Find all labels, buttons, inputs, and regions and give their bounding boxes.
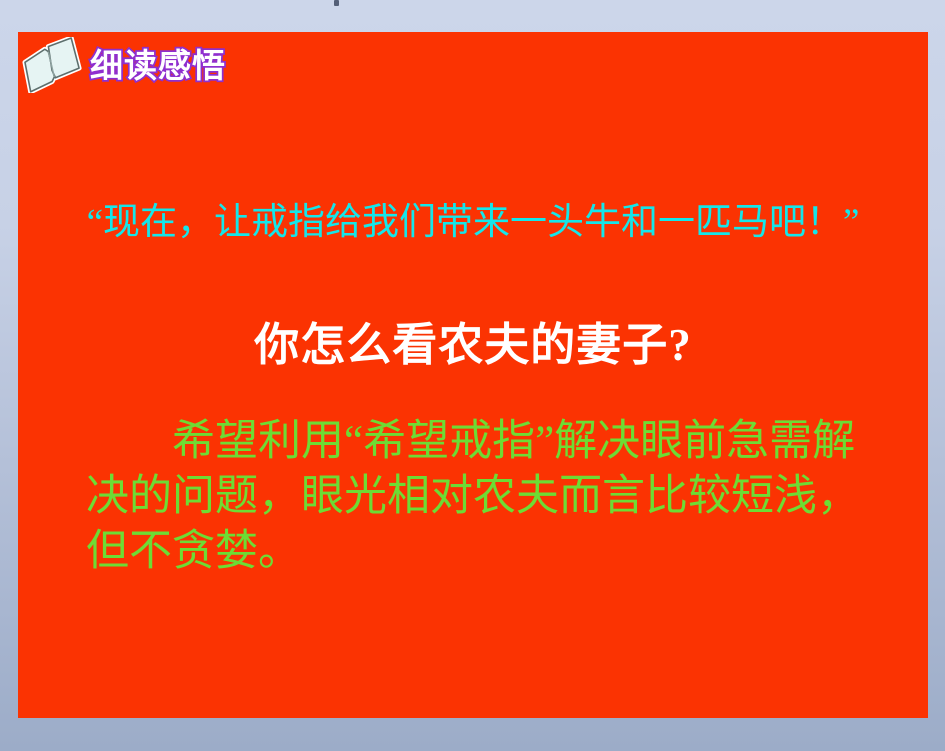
slide-canvas-background: 细读感悟 “现在，让戒指给我们带来一头牛和一匹马吧！” 你怎么看农夫的妻子? 希…: [0, 0, 945, 751]
question-text: 你怎么看农夫的妻子?: [18, 320, 928, 372]
mouse-cursor-artifact: [334, 0, 339, 6]
quote-text: “现在，让戒指给我们带来一头牛和一匹马吧！”: [18, 202, 928, 245]
slide-body: “现在，让戒指给我们带来一头牛和一匹马吧！” 你怎么看农夫的妻子? 希望利用“希…: [18, 32, 928, 718]
answer-paragraph-text: 希望利用“希望戒指”解决眼前急需解决的问题，眼光相对农夫而言比较短浅，但不贪婪。: [86, 414, 866, 579]
presentation-slide: 细读感悟 “现在，让戒指给我们带来一头牛和一匹马吧！” 你怎么看农夫的妻子? 希…: [18, 32, 928, 718]
